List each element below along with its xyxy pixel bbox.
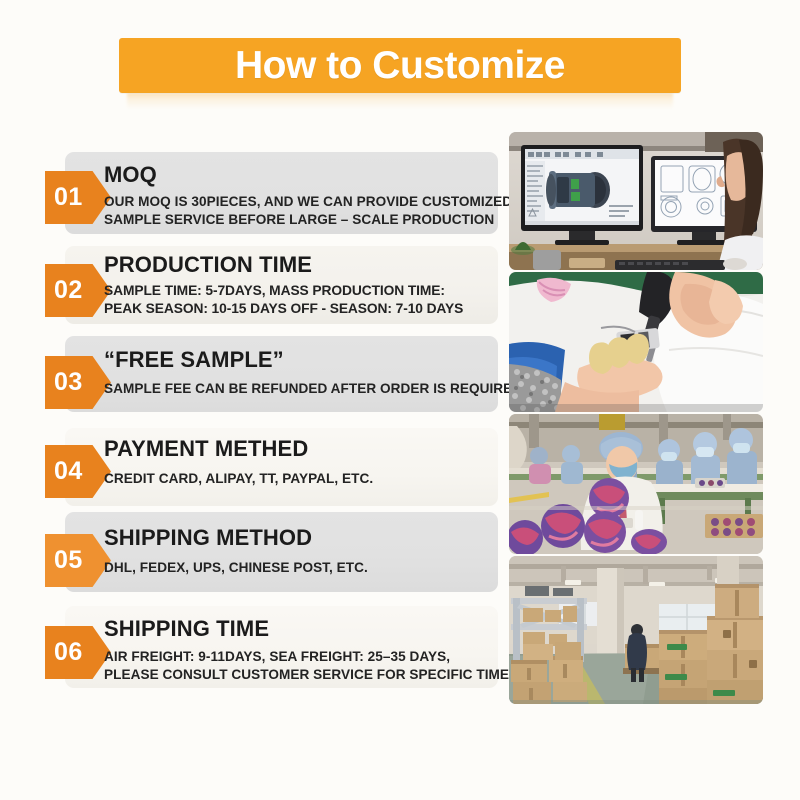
photo-cad-design-workstation [509, 132, 763, 270]
step-body-line: OUR MOQ IS 30PIECES, AND WE CAN PROVIDE … [104, 193, 512, 211]
title-banner: How to Customize [119, 38, 681, 93]
step-text-block: PRODUCTION TIME SAMPLE TIME: 5-7DAYS, MA… [104, 253, 463, 318]
step-text-block: MOQ OUR MOQ IS 30PIECES, AND WE CAN PROV… [104, 163, 512, 229]
step-text-block: SHIPPING TIME AIR FREIGHT: 9-11DAYS, SEA… [104, 617, 509, 684]
step-number: 05 [45, 548, 83, 573]
warehouse-cartons-illustration [509, 556, 763, 704]
cad-design-workstation-illustration [509, 132, 763, 270]
step-title: SHIPPING TIME [104, 617, 509, 642]
step-title: MOQ [104, 163, 512, 188]
step-body-line: SAMPLE TIME: 5-7DAYS, MASS PRODUCTION TI… [104, 282, 463, 300]
title-banner-bar: How to Customize [119, 38, 681, 93]
step-text-block: “FREE SAMPLE” SAMPLE FEE CAN BE REFUNDED… [104, 348, 522, 398]
banner-reflection [127, 93, 673, 109]
steps-list: 01 MOQ OUR MOQ IS 30PIECES, AND WE CAN P… [0, 150, 505, 710]
step-body-line: PEAK SEASON: 10-15 DAYS OFF - SEASON: 7-… [104, 300, 463, 318]
step-body-line: PLEASE CONSULT CUSTOMER SERVICE FOR SPEC… [104, 666, 509, 684]
step-title: PAYMENT METHED [104, 437, 373, 462]
photo-column [509, 132, 763, 704]
factory-production-line-illustration [509, 414, 763, 554]
step-title: SHIPPING METHOD [104, 526, 368, 551]
step-number: 06 [45, 640, 83, 665]
step-title: “FREE SAMPLE” [104, 348, 522, 373]
how-to-customize-infographic: How to Customize 01 MOQ OUR MOQ IS 30PIE… [0, 0, 800, 800]
step-body-line: SAMPLE SERVICE BEFORE LARGE – SCALE PROD… [104, 211, 512, 229]
step-number: 04 [45, 459, 83, 484]
step-text-block: SHIPPING METHOD DHL, FEDEX, UPS, CHINESE… [104, 526, 368, 577]
photo-warehouse-cartons [509, 556, 763, 704]
step-number: 02 [45, 278, 83, 303]
step-body-line: DHL, FEDEX, UPS, CHINESE POST, ETC. [104, 559, 368, 577]
step-number: 03 [45, 370, 83, 395]
page-title: How to Customize [235, 46, 565, 85]
step-body-line: SAMPLE FEE CAN BE REFUNDED AFTER ORDER I… [104, 380, 522, 398]
assembly-screwdriver-illustration [509, 272, 763, 412]
step-body-line: AIR FREIGHT: 9-11DAYS, SEA FREIGHT: 25–3… [104, 648, 509, 666]
step-text-block: PAYMENT METHED CREDIT CARD, ALIPAY, TT, … [104, 437, 373, 488]
photo-factory-production-line [509, 414, 763, 554]
step-body-line: CREDIT CARD, ALIPAY, TT, PAYPAL, ETC. [104, 470, 373, 488]
photo-assembly-screwdriver [509, 272, 763, 412]
step-title: PRODUCTION TIME [104, 253, 463, 278]
step-number: 01 [45, 185, 83, 210]
